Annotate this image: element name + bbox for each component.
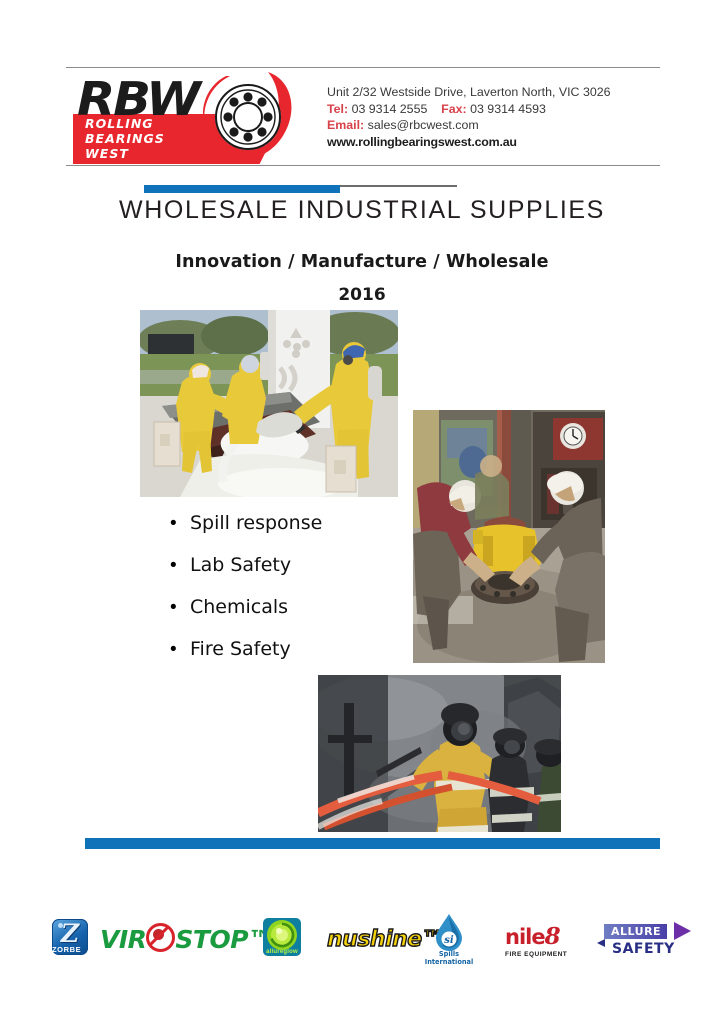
nile-digit-glyph: 8	[545, 923, 561, 950]
industrial-rig-photo	[413, 410, 605, 663]
virostop-text-right: STOP	[175, 925, 248, 954]
header-bottom-rule	[66, 165, 660, 166]
fire-response-photo	[318, 675, 561, 832]
tel-value: 03 9314 2555	[352, 102, 428, 116]
nile-wordmark-row: nile8	[505, 923, 567, 950]
list-item: • Lab Safety	[170, 554, 410, 596]
subtitle: Innovation / Manufacture / Wholesale	[0, 252, 724, 272]
bullet-label: Spill response	[190, 512, 322, 534]
brand-logo-virostop: VIRSTOP™	[100, 923, 273, 954]
bullet-icon: •	[170, 598, 190, 617]
contact-phone-row: Tel: 03 9314 2555 Fax: 03 9314 4593	[327, 101, 611, 118]
industrial-rig-illustration	[413, 410, 605, 663]
allure-top-text: ALLURE	[604, 924, 667, 939]
no-virus-icon	[146, 923, 175, 952]
bullet-icon: •	[170, 640, 190, 659]
list-item: • Chemicals	[170, 596, 410, 638]
allure-bottom-text: SAFETY	[612, 941, 675, 957]
virostop-text-left: VIR	[100, 925, 146, 954]
allure-safety-mark: ALLURE SAFETY	[604, 922, 675, 957]
logo-tagline: ROLLING BEARINGS WEST	[85, 116, 165, 161]
arrow-right-icon	[674, 922, 691, 940]
title-accent-line	[340, 185, 457, 187]
water-drop-icon: si	[434, 913, 464, 951]
brand-logo-spill-international: si Spills International	[434, 913, 478, 966]
bullet-icon: •	[170, 556, 190, 575]
logo-tagline-line1: ROLLING	[85, 116, 165, 131]
brand-logo-allureglow: allureglow	[263, 918, 301, 956]
brand-logo-zorbe: Z ZORBE	[52, 919, 88, 955]
year-label: 2016	[0, 285, 724, 305]
contact-address: Unit 2/32 Westside Drive, Laverton North…	[327, 84, 611, 101]
product-bullet-list: • Spill response • Lab Safety • Chemical…	[170, 512, 410, 680]
brand-logo-allure-safety: ALLURE SAFETY	[604, 922, 675, 958]
svg-text:si: si	[444, 935, 454, 946]
header-top-rule	[66, 67, 660, 68]
brand-logo-strip: Z ZORBE VIRSTOP™ allureglow nu	[0, 905, 724, 977]
list-item: • Fire Safety	[170, 638, 410, 680]
contact-email-row: Email: sales@rbcwest.com	[327, 117, 611, 134]
fire-response-illustration	[318, 675, 561, 832]
bearing-icon	[196, 70, 296, 165]
spill-droplet-icon: si	[434, 913, 464, 951]
fax-value: 03 9314 4593	[470, 102, 546, 116]
contact-block: Unit 2/32 Westside Drive, Laverton North…	[327, 84, 611, 150]
spill-caption-line2: International	[420, 959, 478, 967]
arrow-left-icon	[597, 939, 605, 947]
bullet-icon: •	[170, 514, 190, 533]
spill-response-illustration	[140, 310, 398, 497]
logo-tagline-line2: BEARINGS	[85, 131, 165, 146]
bearing-swoosh-icon	[196, 70, 296, 165]
zorbe-caption: ZORBE	[52, 945, 88, 954]
tel-label: Tel:	[327, 102, 348, 116]
bullet-label: Fire Safety	[190, 638, 291, 660]
brand-logo-nushine: nushine™	[327, 927, 443, 952]
logo-tagline-line3: WEST	[85, 146, 165, 161]
brand-logo-nile: nile8 FIRE EQUIPMENT	[505, 923, 567, 958]
email-label: Email:	[327, 118, 364, 132]
nushine-text: nushine	[327, 927, 422, 952]
virus-glyph	[153, 929, 164, 940]
allureglow-caption: allureglow	[263, 949, 301, 955]
list-item: • Spill response	[170, 512, 410, 554]
bullet-label: Lab Safety	[190, 554, 291, 576]
title-accent-bar	[144, 185, 340, 193]
website-link[interactable]: www.rollingbearingswest.com.au	[327, 134, 611, 151]
bottom-accent-bar	[85, 838, 660, 849]
flyer-page: RBW ROLLING BEARINGS WEST Unit 2/32 We	[0, 0, 724, 1024]
nile-wordmark: nile	[505, 925, 545, 949]
zorbe-icon: Z ZORBE	[52, 919, 88, 955]
email-value[interactable]: sales@rbcwest.com	[368, 118, 479, 132]
bullet-label: Chemicals	[190, 596, 288, 618]
nile-caption: FIRE EQUIPMENT	[505, 951, 567, 958]
fax-label: Fax:	[441, 102, 466, 116]
allureglow-icon: allureglow	[263, 918, 301, 956]
spill-response-photo	[140, 310, 398, 497]
page-title: WHOLESALE INDUSTRIAL SUPPLIES	[0, 196, 724, 225]
